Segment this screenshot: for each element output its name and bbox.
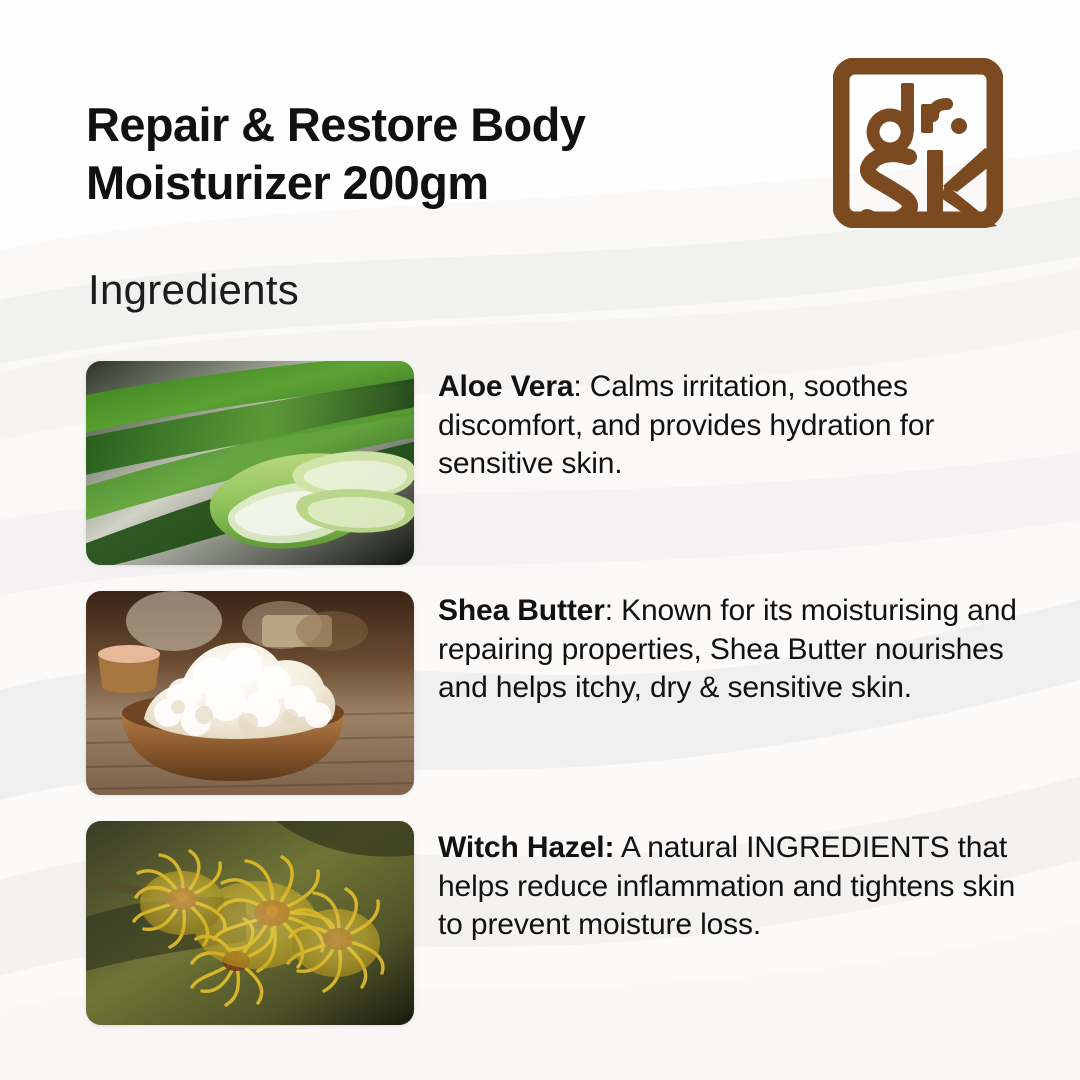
ingredients-list: Aloe Vera: Calms irritation, soothes dis… — [0, 361, 1080, 1051]
list-item: Witch Hazel: A natural INGREDIENTS that … — [0, 821, 1080, 1025]
ingredient-description: Shea Butter: Known for its moisturising … — [438, 592, 1030, 708]
witch-hazel-photo — [86, 821, 414, 1025]
ingredient-description: Aloe Vera: Calms irritation, soothes dis… — [438, 368, 1030, 484]
ingredient-separator: : — [573, 370, 589, 403]
ingredient-separator: : — [605, 594, 621, 627]
dr-sk-logo — [833, 58, 1003, 228]
aloe-vera-photo — [86, 361, 414, 565]
ingredients-heading: Ingredients — [88, 266, 299, 314]
list-item: Shea Butter: Known for its moisturising … — [0, 591, 1080, 795]
shea-butter-photo — [86, 591, 414, 795]
list-item: Aloe Vera: Calms irritation, soothes dis… — [0, 361, 1080, 565]
ingredient-name: Witch Hazel: — [438, 831, 614, 864]
page-title: Repair & Restore Body Moisturizer 200gm — [86, 96, 726, 212]
product-ingredients-poster: Repair & Restore Body Moisturizer 200gm … — [0, 0, 1080, 1080]
ingredient-name: Shea Butter — [438, 594, 605, 627]
ingredient-description: Witch Hazel: A natural INGREDIENTS that … — [438, 829, 1030, 945]
ingredient-name: Aloe Vera — [438, 370, 573, 403]
